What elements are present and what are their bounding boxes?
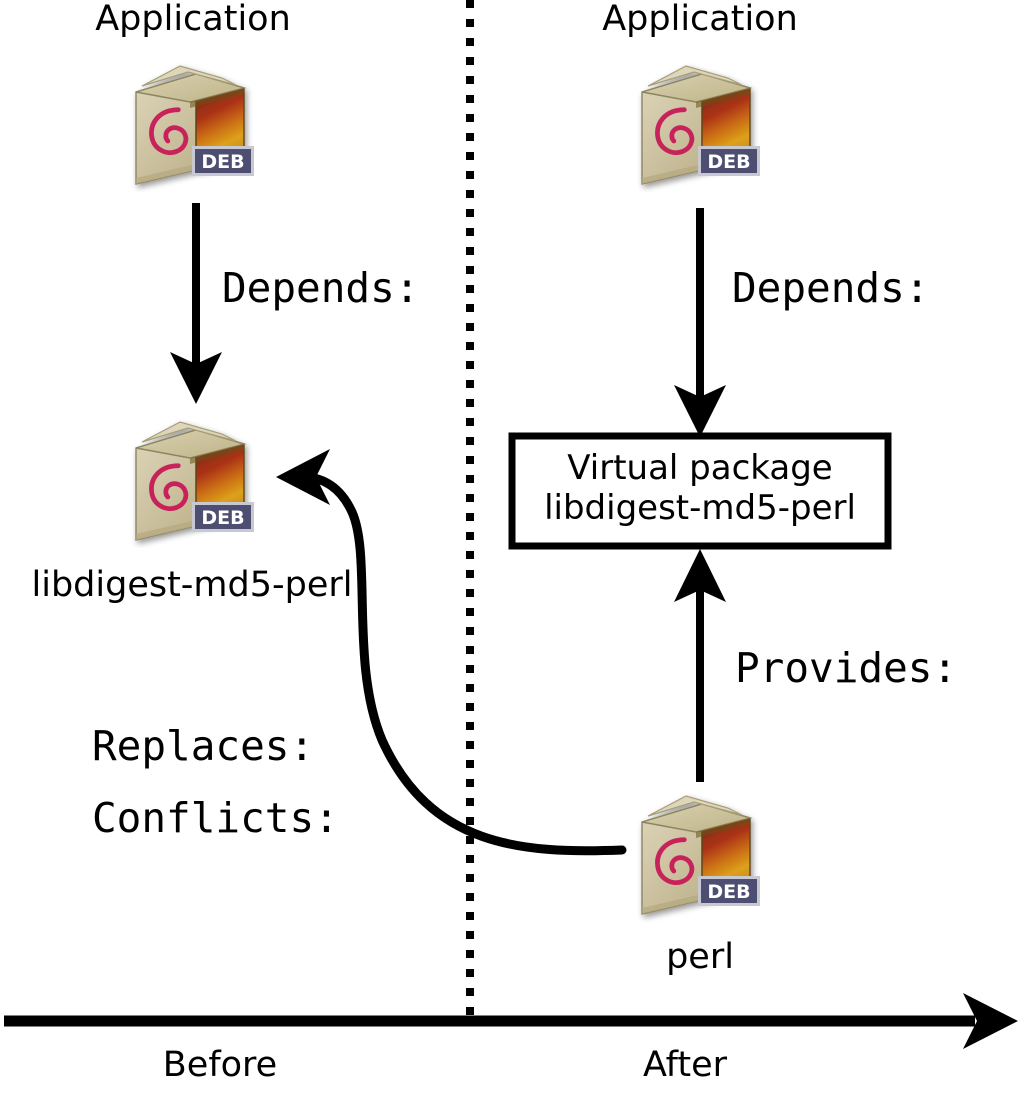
- deb-badge: DEB: [698, 876, 760, 906]
- package-label-perl: perl: [666, 940, 734, 975]
- diagram-canvas: DEB DEB: [0, 0, 1024, 1094]
- virtual-package-line2: libdigest-md5-perl: [512, 488, 888, 528]
- application-label-after: Application: [602, 2, 798, 37]
- debian-package-icon-libdigest-md5-perl: DEB: [118, 408, 268, 548]
- deb-badge-text: DEB: [707, 881, 750, 903]
- replaces-label: Replaces:: [92, 726, 314, 767]
- virtual-package-box-label: Virtual package libdigest-md5-perl: [512, 448, 888, 528]
- package-label-libdigest-md5-perl: libdigest-md5-perl: [31, 568, 352, 603]
- timeline-label-after: After: [643, 1048, 727, 1083]
- debian-package-icon-perl: DEB: [624, 782, 774, 922]
- depends-label-before: Depends:: [222, 268, 419, 309]
- timeline-label-before: Before: [163, 1048, 277, 1083]
- conflicts-label: Conflicts:: [92, 798, 339, 839]
- debian-package-icon-application-after: DEB: [624, 52, 774, 192]
- deb-badge-text: DEB: [201, 151, 244, 173]
- debian-package-icon-application-before: DEB: [118, 52, 268, 192]
- deb-badge-text: DEB: [707, 151, 750, 173]
- depends-arrow-before: [170, 203, 222, 404]
- virtual-package-line1: Virtual package: [512, 448, 888, 488]
- timeline-axis: [4, 993, 1018, 1049]
- deb-badge: DEB: [698, 146, 760, 176]
- depends-arrow-after: [674, 208, 726, 437]
- depends-label-after: Depends:: [732, 268, 929, 309]
- application-label-before: Application: [95, 2, 291, 37]
- deb-badge: DEB: [192, 502, 254, 532]
- provides-arrow: [674, 549, 726, 782]
- provides-label: Provides:: [735, 648, 957, 689]
- deb-badge-text: DEB: [201, 507, 244, 529]
- deb-badge: DEB: [192, 146, 254, 176]
